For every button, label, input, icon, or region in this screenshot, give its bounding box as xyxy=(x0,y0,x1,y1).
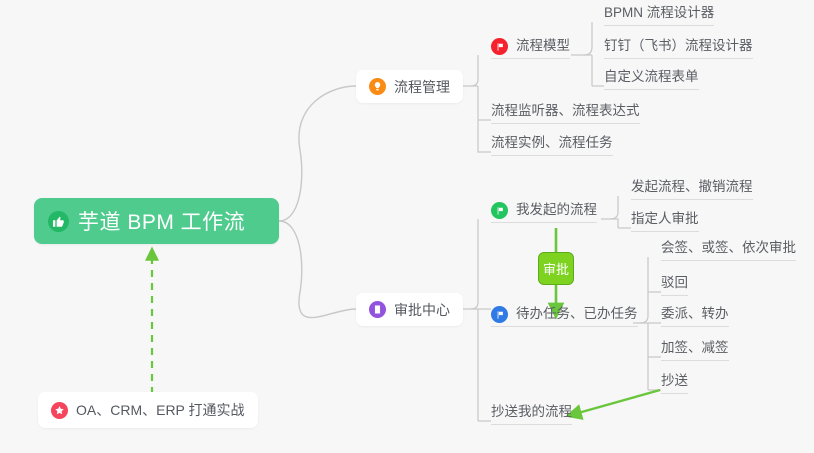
node-label: 流程管理 xyxy=(394,77,450,97)
edge-model-trunk xyxy=(584,55,592,86)
root-node[interactable]: 芋道 BPM 工作流 xyxy=(34,198,279,244)
node-label: 待办任务、已办任务 xyxy=(516,305,638,323)
node-instance-task[interactable]: 流程实例、流程任务 xyxy=(491,130,613,156)
node-label: 抄送我的流程 xyxy=(491,403,572,421)
node-label: 加签、减签 xyxy=(661,339,729,357)
node-listener-expression[interactable]: 流程监听器、流程表达式 xyxy=(491,98,640,124)
flag-icon-red xyxy=(491,38,508,55)
node-assignee-approval[interactable]: 指定人审批 xyxy=(631,206,699,232)
node-label: 钉钉（飞书）流程设计器 xyxy=(604,37,753,55)
node-reject[interactable]: 驳回 xyxy=(661,270,688,296)
star-icon xyxy=(51,402,68,419)
node-approval-center[interactable]: 审批中心 xyxy=(356,293,463,326)
callout-label: OA、CRM、ERP 打通实战 xyxy=(76,400,245,420)
node-cc[interactable]: 抄送 xyxy=(661,368,688,394)
node-label: 抄送 xyxy=(661,372,688,390)
edge-init-trunk xyxy=(610,219,618,228)
tag-approval[interactable]: 审批 xyxy=(538,252,574,285)
node-label: 流程监听器、流程表达式 xyxy=(491,102,640,120)
root-label: 芋道 BPM 工作流 xyxy=(78,206,245,236)
node-bpmn-designer[interactable]: BPMN 流程设计器 xyxy=(604,0,714,26)
node-label: 委派、转办 xyxy=(661,305,729,323)
node-label: 指定人审批 xyxy=(631,210,699,228)
node-label: 流程实例、流程任务 xyxy=(491,134,613,152)
flag-icon-blue xyxy=(491,306,508,323)
node-delegate-transfer[interactable]: 委派、转办 xyxy=(661,301,729,327)
node-my-initiated-process[interactable]: 我发起的流程 xyxy=(491,197,597,223)
node-add-remove-sign[interactable]: 加签、减签 xyxy=(661,335,729,361)
lightbulb-icon xyxy=(369,78,386,95)
edge-root-to-process-management xyxy=(279,86,356,221)
edge-todo-to-cc xyxy=(648,323,661,390)
edge-root-to-approval-center xyxy=(279,221,356,318)
node-label: 流程模型 xyxy=(516,37,570,55)
node-dingtalk-feishu-designer[interactable]: 钉钉（飞书）流程设计器 xyxy=(604,33,753,59)
mindmap-canvas: 芋道 BPM 工作流 OA、CRM、ERP 打通实战 流程管理 流程模型 BPM… xyxy=(0,0,814,453)
node-label: 发起流程、撤销流程 xyxy=(631,178,753,196)
flag-icon-green xyxy=(491,202,508,219)
node-label: 会签、或签、依次审批 xyxy=(661,239,796,257)
node-todo-done-tasks[interactable]: 待办任务、已办任务 xyxy=(491,301,638,327)
node-countersign-or-sequential[interactable]: 会签、或签、依次审批 xyxy=(661,235,796,261)
node-custom-process-form[interactable]: 自定义流程表单 xyxy=(604,64,699,90)
node-process-model[interactable]: 流程模型 xyxy=(491,33,570,59)
node-label: 我发起的流程 xyxy=(516,201,597,219)
node-label: 审批中心 xyxy=(394,300,450,320)
node-label: BPMN 流程设计器 xyxy=(604,4,714,22)
tag-label: 审批 xyxy=(543,259,569,278)
edge-pm-trunk xyxy=(471,86,478,120)
edge-model-to-bpmn xyxy=(571,22,592,55)
node-process-management[interactable]: 流程管理 xyxy=(356,70,463,103)
node-cc-to-me-process[interactable]: 抄送我的流程 xyxy=(491,399,572,425)
thumbs-up-icon xyxy=(48,211,69,232)
edge-init-to-start xyxy=(601,196,618,219)
document-icon xyxy=(369,301,386,318)
edge-pm-to-instance xyxy=(478,120,491,152)
node-start-cancel-process[interactable]: 发起流程、撤销流程 xyxy=(631,174,753,200)
arrow-cc-to-cc-mine xyxy=(571,390,660,415)
callout-card-oa-crm-erp[interactable]: OA、CRM、ERP 打通实战 xyxy=(38,392,258,428)
node-label: 自定义流程表单 xyxy=(604,68,699,86)
node-label: 驳回 xyxy=(661,274,688,292)
edge-ac-to-cc-mine xyxy=(478,309,491,421)
